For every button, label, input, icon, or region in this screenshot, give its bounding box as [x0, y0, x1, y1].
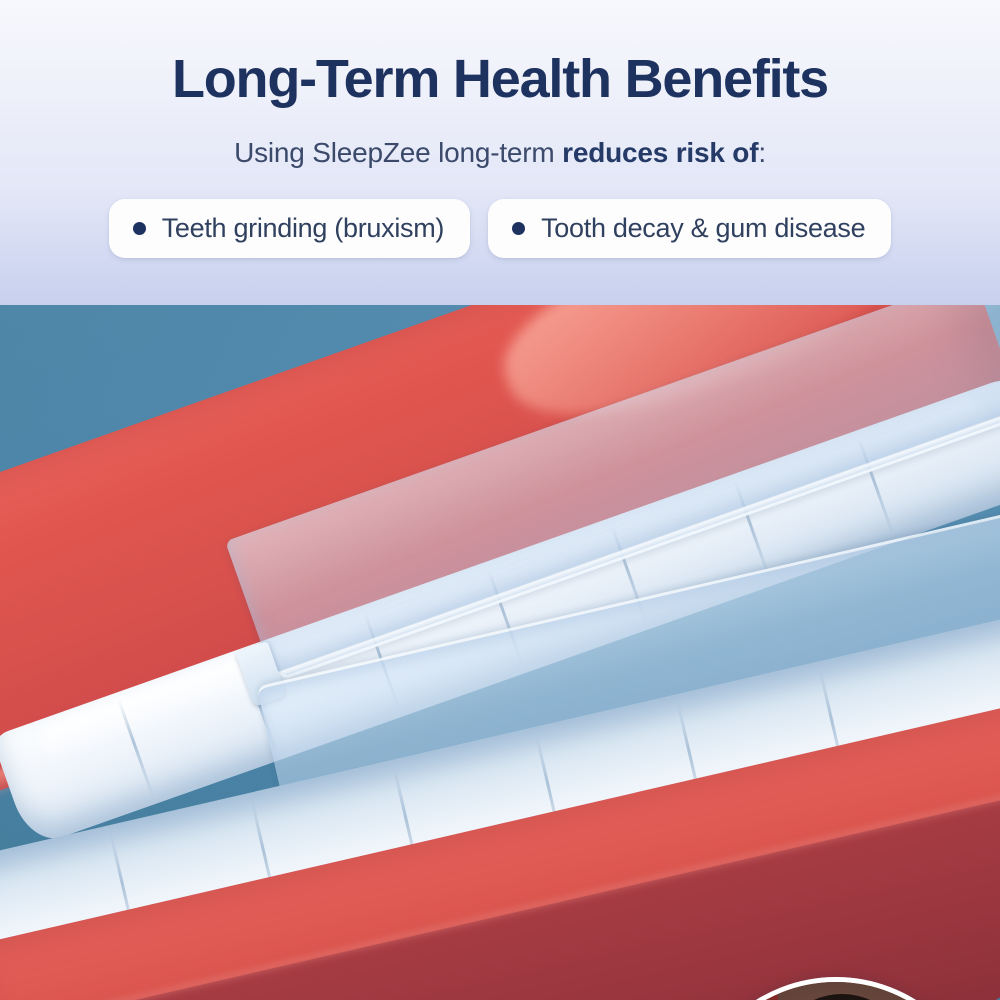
header-section: Long-Term Health Benefits Using SleepZee… [0, 0, 1000, 305]
subtitle-trail: : [758, 137, 766, 168]
doctor-inset-scene [690, 982, 982, 1000]
subtitle: Using SleepZee long-term reduces risk of… [0, 134, 1000, 172]
product-photo [0, 305, 1000, 1000]
benefit-pill-label: Teeth grinding (bruxism) [162, 212, 444, 244]
bullet-dot-icon [133, 222, 146, 235]
page-title: Long-Term Health Benefits [0, 48, 1000, 110]
benefit-pill-list: Teeth grinding (bruxism) Tooth decay & g… [0, 199, 1000, 258]
benefit-pill-label: Tooth decay & gum disease [541, 212, 865, 244]
bullet-dot-icon [512, 222, 525, 235]
inset-background-left-band [690, 982, 754, 1000]
subtitle-lead: Using SleepZee long-term [234, 137, 562, 168]
promo-card: Long-Term Health Benefits Using SleepZee… [0, 0, 1000, 1000]
benefit-pill-tooth-decay[interactable]: Tooth decay & gum disease [488, 199, 891, 258]
benefit-pill-bruxism[interactable]: Teeth grinding (bruxism) [109, 199, 470, 258]
subtitle-emphasis: reduces risk of [562, 137, 758, 168]
